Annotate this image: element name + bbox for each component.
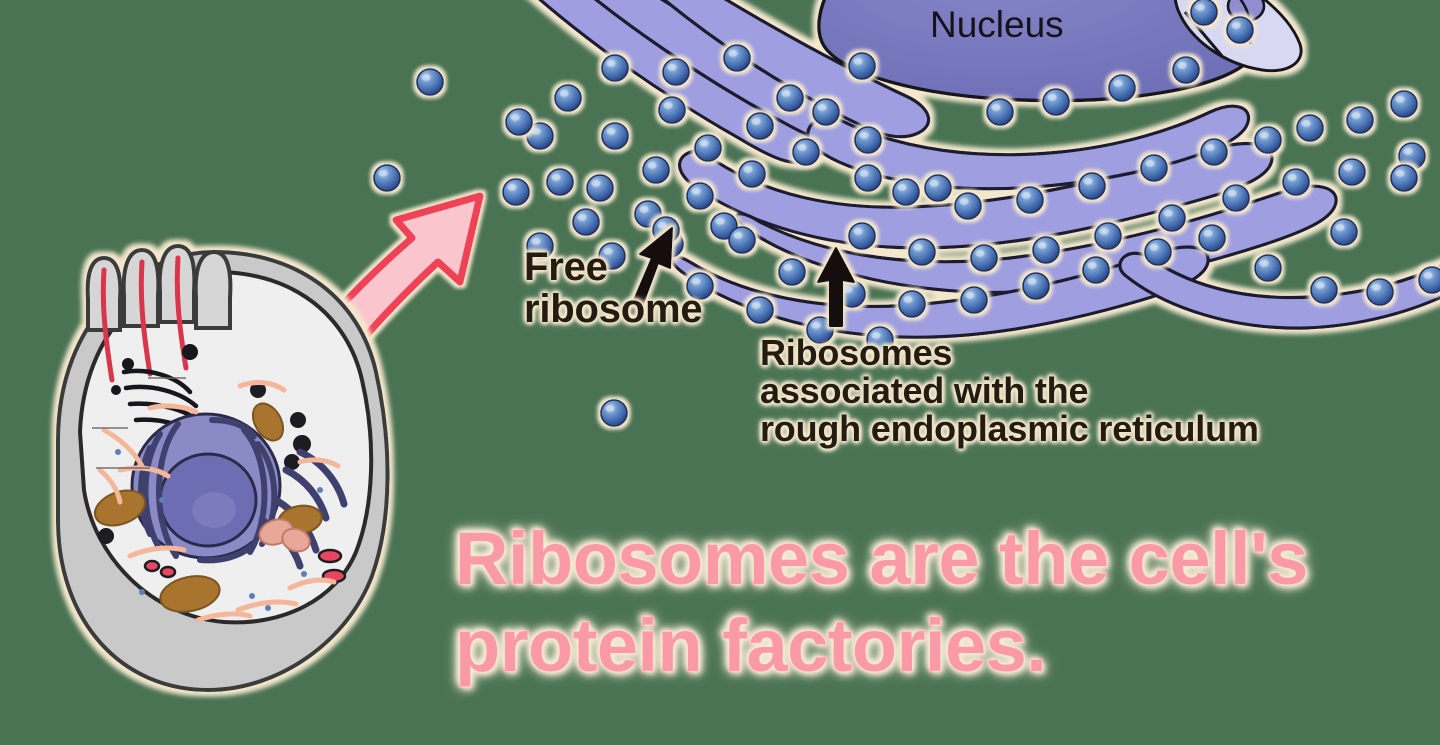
rough-er-label: Ribosomes associated with the rough endo… (760, 334, 1259, 448)
animal-cell-illustration (58, 246, 388, 690)
main-caption: Ribosomes are the cell's protein factori… (455, 515, 1355, 690)
nucleus-label: Nucleus (930, 5, 1064, 44)
free-ribosome-label: Free ribosome (524, 246, 702, 331)
diagram-canvas: Nucleus Free ribosome Ribosomes associat… (0, 0, 1440, 745)
